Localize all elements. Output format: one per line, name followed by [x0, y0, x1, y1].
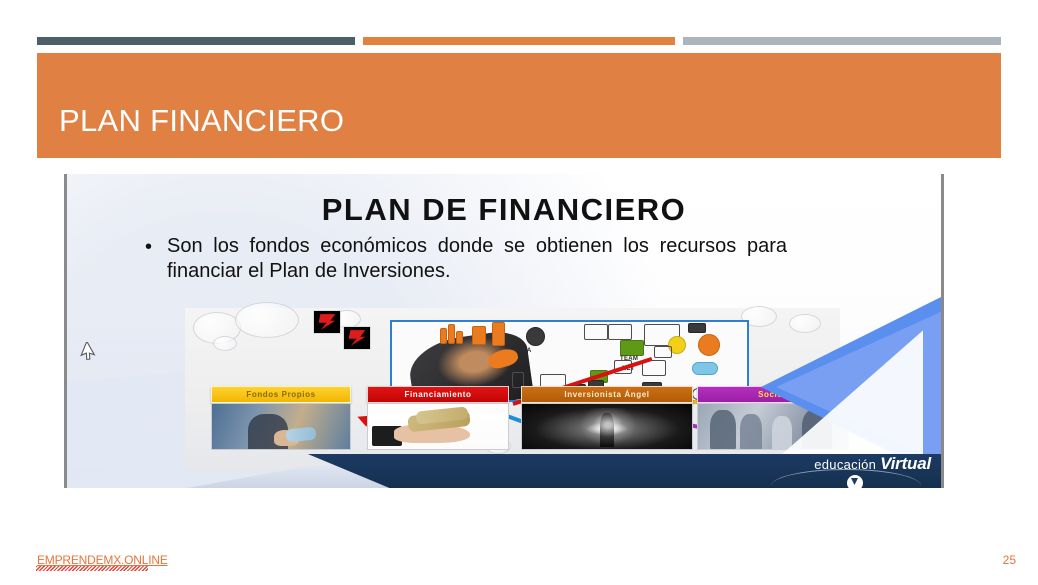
doodle-label-idea: IDEA [516, 348, 532, 354]
doodle-bar-chart [440, 328, 447, 344]
bullet-marker: • [145, 235, 152, 260]
decorative-bubble [789, 314, 821, 333]
doodle-bar-chart [448, 324, 455, 344]
presentation-slide: PLAN FINANCIERO PLAN DE FINANCIERO • Son… [0, 0, 1038, 585]
category-chip-fondos-propios[interactable]: Fondos Propios [211, 386, 351, 403]
doodle-device [688, 323, 706, 333]
image-bullet-text: Son los fondos económicos donde se obtie… [167, 235, 787, 282]
brand-badge-icon [847, 475, 863, 488]
category-chip-financiamiento[interactable]: Financiamiento [367, 386, 509, 403]
spellcheck-underline [36, 566, 148, 571]
doodle-donut-chart [698, 334, 720, 356]
spotlight-glow [580, 408, 636, 446]
red-logo-mark-icon [343, 326, 371, 350]
footer-website-link[interactable]: EMPRENDEMX.ONLINE [37, 553, 168, 567]
person-silhouette [740, 414, 762, 450]
doodle-bar-chart [456, 331, 463, 344]
category-photo-financiamiento [367, 403, 509, 450]
doodle-grid [608, 324, 632, 340]
top-accent-bar-orange [363, 37, 675, 45]
page-title: PLAN FINANCIERO [59, 103, 344, 139]
red-logo-mark-icon [313, 310, 341, 334]
doodle-bars [654, 346, 672, 358]
decorative-bubble [235, 302, 299, 338]
diagram-panel: IDEA TEAM NET Fondos Propios Financiamie… [185, 308, 840, 473]
category-chip-inversionista-angel[interactable]: Inversionista Ángel [521, 386, 693, 403]
doodle-pie-chart [526, 327, 545, 346]
image-bullet-paragraph: • Son los fondos económicos donde se obt… [167, 234, 787, 284]
brand-suffix: Virtual [880, 454, 931, 473]
doodle-box [492, 322, 505, 346]
doodle-grid [584, 324, 608, 340]
money-shape [285, 426, 316, 442]
slide-title-band: PLAN FINANCIERO [37, 53, 1001, 158]
image-heading: PLAN DE FINANCIERO [67, 192, 941, 228]
top-accent-bar-gray [683, 37, 1001, 45]
doodle-box [472, 326, 486, 345]
slide-page-number: 25 [1003, 553, 1016, 567]
person-silhouette [772, 416, 792, 450]
mouse-pointer-icon [80, 342, 98, 362]
top-accent-bar-dark [37, 37, 355, 45]
person-silhouette [710, 410, 736, 450]
slide-content-image[interactable]: PLAN DE FINANCIERO • Son los fondos econ… [64, 174, 944, 488]
decorative-bubble [213, 336, 237, 351]
category-photo-fondos-propios [211, 403, 351, 450]
doodle-green-box [620, 340, 644, 356]
doodle-cloud [692, 362, 718, 375]
category-photo-inversionista-angel [521, 403, 693, 450]
